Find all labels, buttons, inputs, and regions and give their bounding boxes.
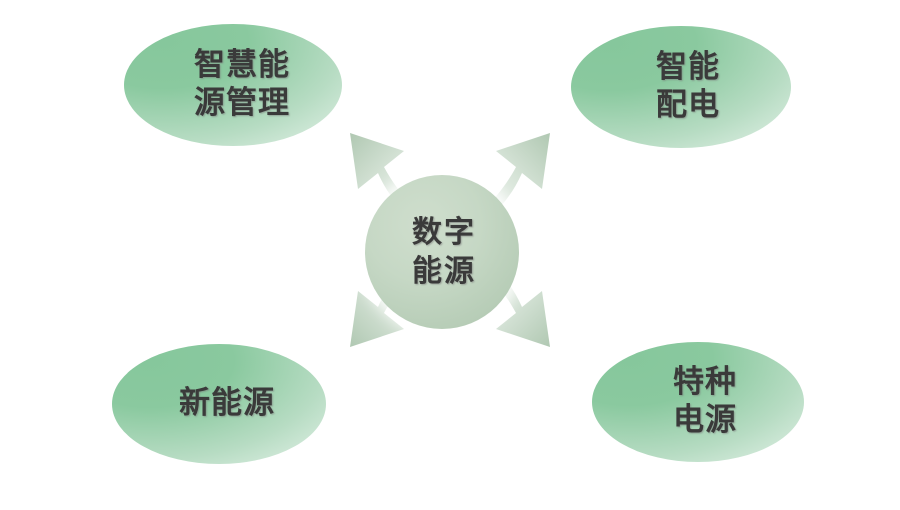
node-new-energy[interactable]: 新能源: [112, 344, 326, 464]
node-special-power-label: 特种 电源: [659, 364, 737, 440]
node-smart-distribution-label: 智能 配电: [642, 49, 720, 125]
node-digital-energy-hub-label: 数字 能源: [408, 213, 476, 291]
diagram-canvas: 智慧能 源管理 智能 配电 新能源 特种 电源 数字 能源: [0, 0, 900, 510]
node-special-power[interactable]: 特种 电源: [592, 342, 804, 462]
node-smart-energy-management-label: 智慧能 源管理: [176, 47, 290, 123]
node-digital-energy-hub[interactable]: 数字 能源: [365, 175, 519, 329]
node-smart-distribution[interactable]: 智能 配电: [571, 26, 791, 148]
node-smart-energy-management[interactable]: 智慧能 源管理: [124, 24, 342, 146]
node-new-energy-label: 新能源: [163, 385, 275, 423]
